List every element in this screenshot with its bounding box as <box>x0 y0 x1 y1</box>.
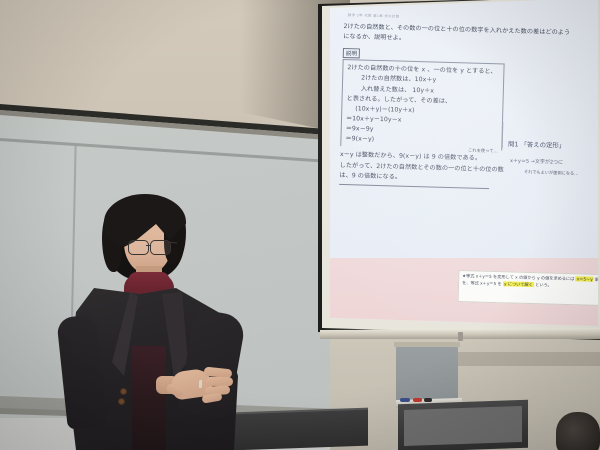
note-highlight-2: y について解く <box>503 281 534 287</box>
proof-tag: 説明 <box>343 48 360 58</box>
projected-slide: 数学 2年 代数 第1章 式の計算 2けたの自然数と、その数の一の位と十の位の数… <box>330 0 598 332</box>
proof-box: 2けたの自然数の十の位を x 、一の位を y とすると、 2けたの自然数は、10… <box>340 59 504 151</box>
annotation-section-title: 問1 「答えの定形」 <box>508 139 565 149</box>
right-wall-band <box>458 352 600 366</box>
slide-note-box: ★等式 x＋y＝5 を変形して x の値から y の値を求めるには x＝5－y … <box>458 270 598 306</box>
glasses-bridge <box>146 245 151 246</box>
finger-ring-band <box>199 380 202 388</box>
note-highlight-1: x＝5－y <box>576 276 594 282</box>
screen-canvas: 数学 2年 代数 第1章 式の計算 2けたの自然数と、その数の一の位と十の位の数… <box>330 0 598 332</box>
secondary-blackboard <box>396 345 458 401</box>
glasses-lens-left <box>128 240 149 255</box>
annotation-left-hint: これを使って… <box>468 148 498 155</box>
audience-head <box>556 412 600 450</box>
projection-screen: 数学 2年 代数 第1章 式の計算 2けたの自然数と、その数の一の位と十の位の数… <box>318 0 600 346</box>
red-marker <box>413 398 422 402</box>
coat-button-lower <box>118 398 125 405</box>
presenter <box>58 196 248 450</box>
turtleneck-collar <box>128 272 170 290</box>
conclusion-block: x－y は整数だから、9(x－y) は 9 の倍数である。 したがって、2けたの… <box>339 150 586 186</box>
black-marker <box>424 398 432 402</box>
monitor-screen <box>404 406 522 446</box>
screen-roller-knob[interactable] <box>458 332 463 341</box>
slide-divider <box>339 184 489 189</box>
gesturing-hand <box>156 356 234 412</box>
classroom-photo: 数学 2年 代数 第1章 式の計算 2けたの自然数と、その数の一の位と十の位の数… <box>0 0 600 450</box>
coat-button-upper <box>120 388 127 395</box>
slide-header-note: 数学 2年 代数 第1章 式の計算 <box>348 12 590 24</box>
blue-marker <box>400 398 410 402</box>
